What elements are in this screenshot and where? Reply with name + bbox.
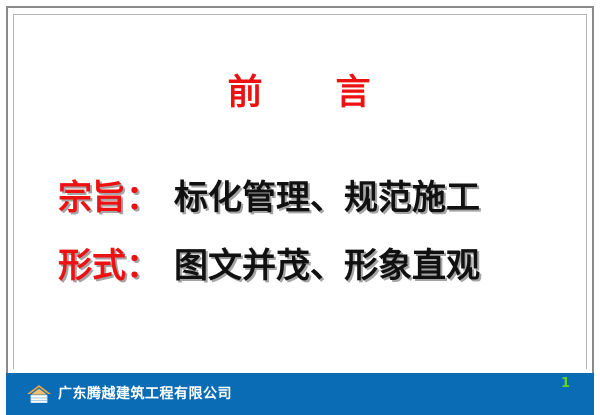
content-value-form: 图文并茂、形象直观 <box>174 238 480 287</box>
content-line: 形式： 图文并茂、形象直观 <box>58 238 558 306</box>
frame-border-right-inner <box>586 14 587 369</box>
page-number: 1 <box>561 376 570 392</box>
content-label-form: 形式： <box>58 238 160 287</box>
content-value-purpose: 标化管理、规范施工 <box>174 170 480 219</box>
slide-canvas: 前 言 宗旨： 标化管理、规范施工 形式： 图文并茂、形象直观 <box>14 15 586 369</box>
footer-bar: 广东腾越建筑工程有限公司 1 <box>6 373 594 415</box>
house-icon <box>26 384 52 404</box>
frame-border-right-outer <box>592 6 594 409</box>
frame-border-left-outer <box>6 6 8 409</box>
content-line: 宗旨： 标化管理、规范施工 <box>58 170 558 238</box>
slide-title: 前 言 <box>14 75 586 112</box>
footer-company-name: 广东腾越建筑工程有限公司 <box>58 384 232 404</box>
frame-border-top-outer <box>6 6 594 8</box>
content-label-purpose: 宗旨： <box>58 170 160 219</box>
slide-frame: 前 言 宗旨： 标化管理、规范施工 形式： 图文并茂、形象直观 广东腾越建筑工程 <box>0 0 600 415</box>
content-block: 宗旨： 标化管理、规范施工 形式： 图文并茂、形象直观 <box>58 170 558 306</box>
